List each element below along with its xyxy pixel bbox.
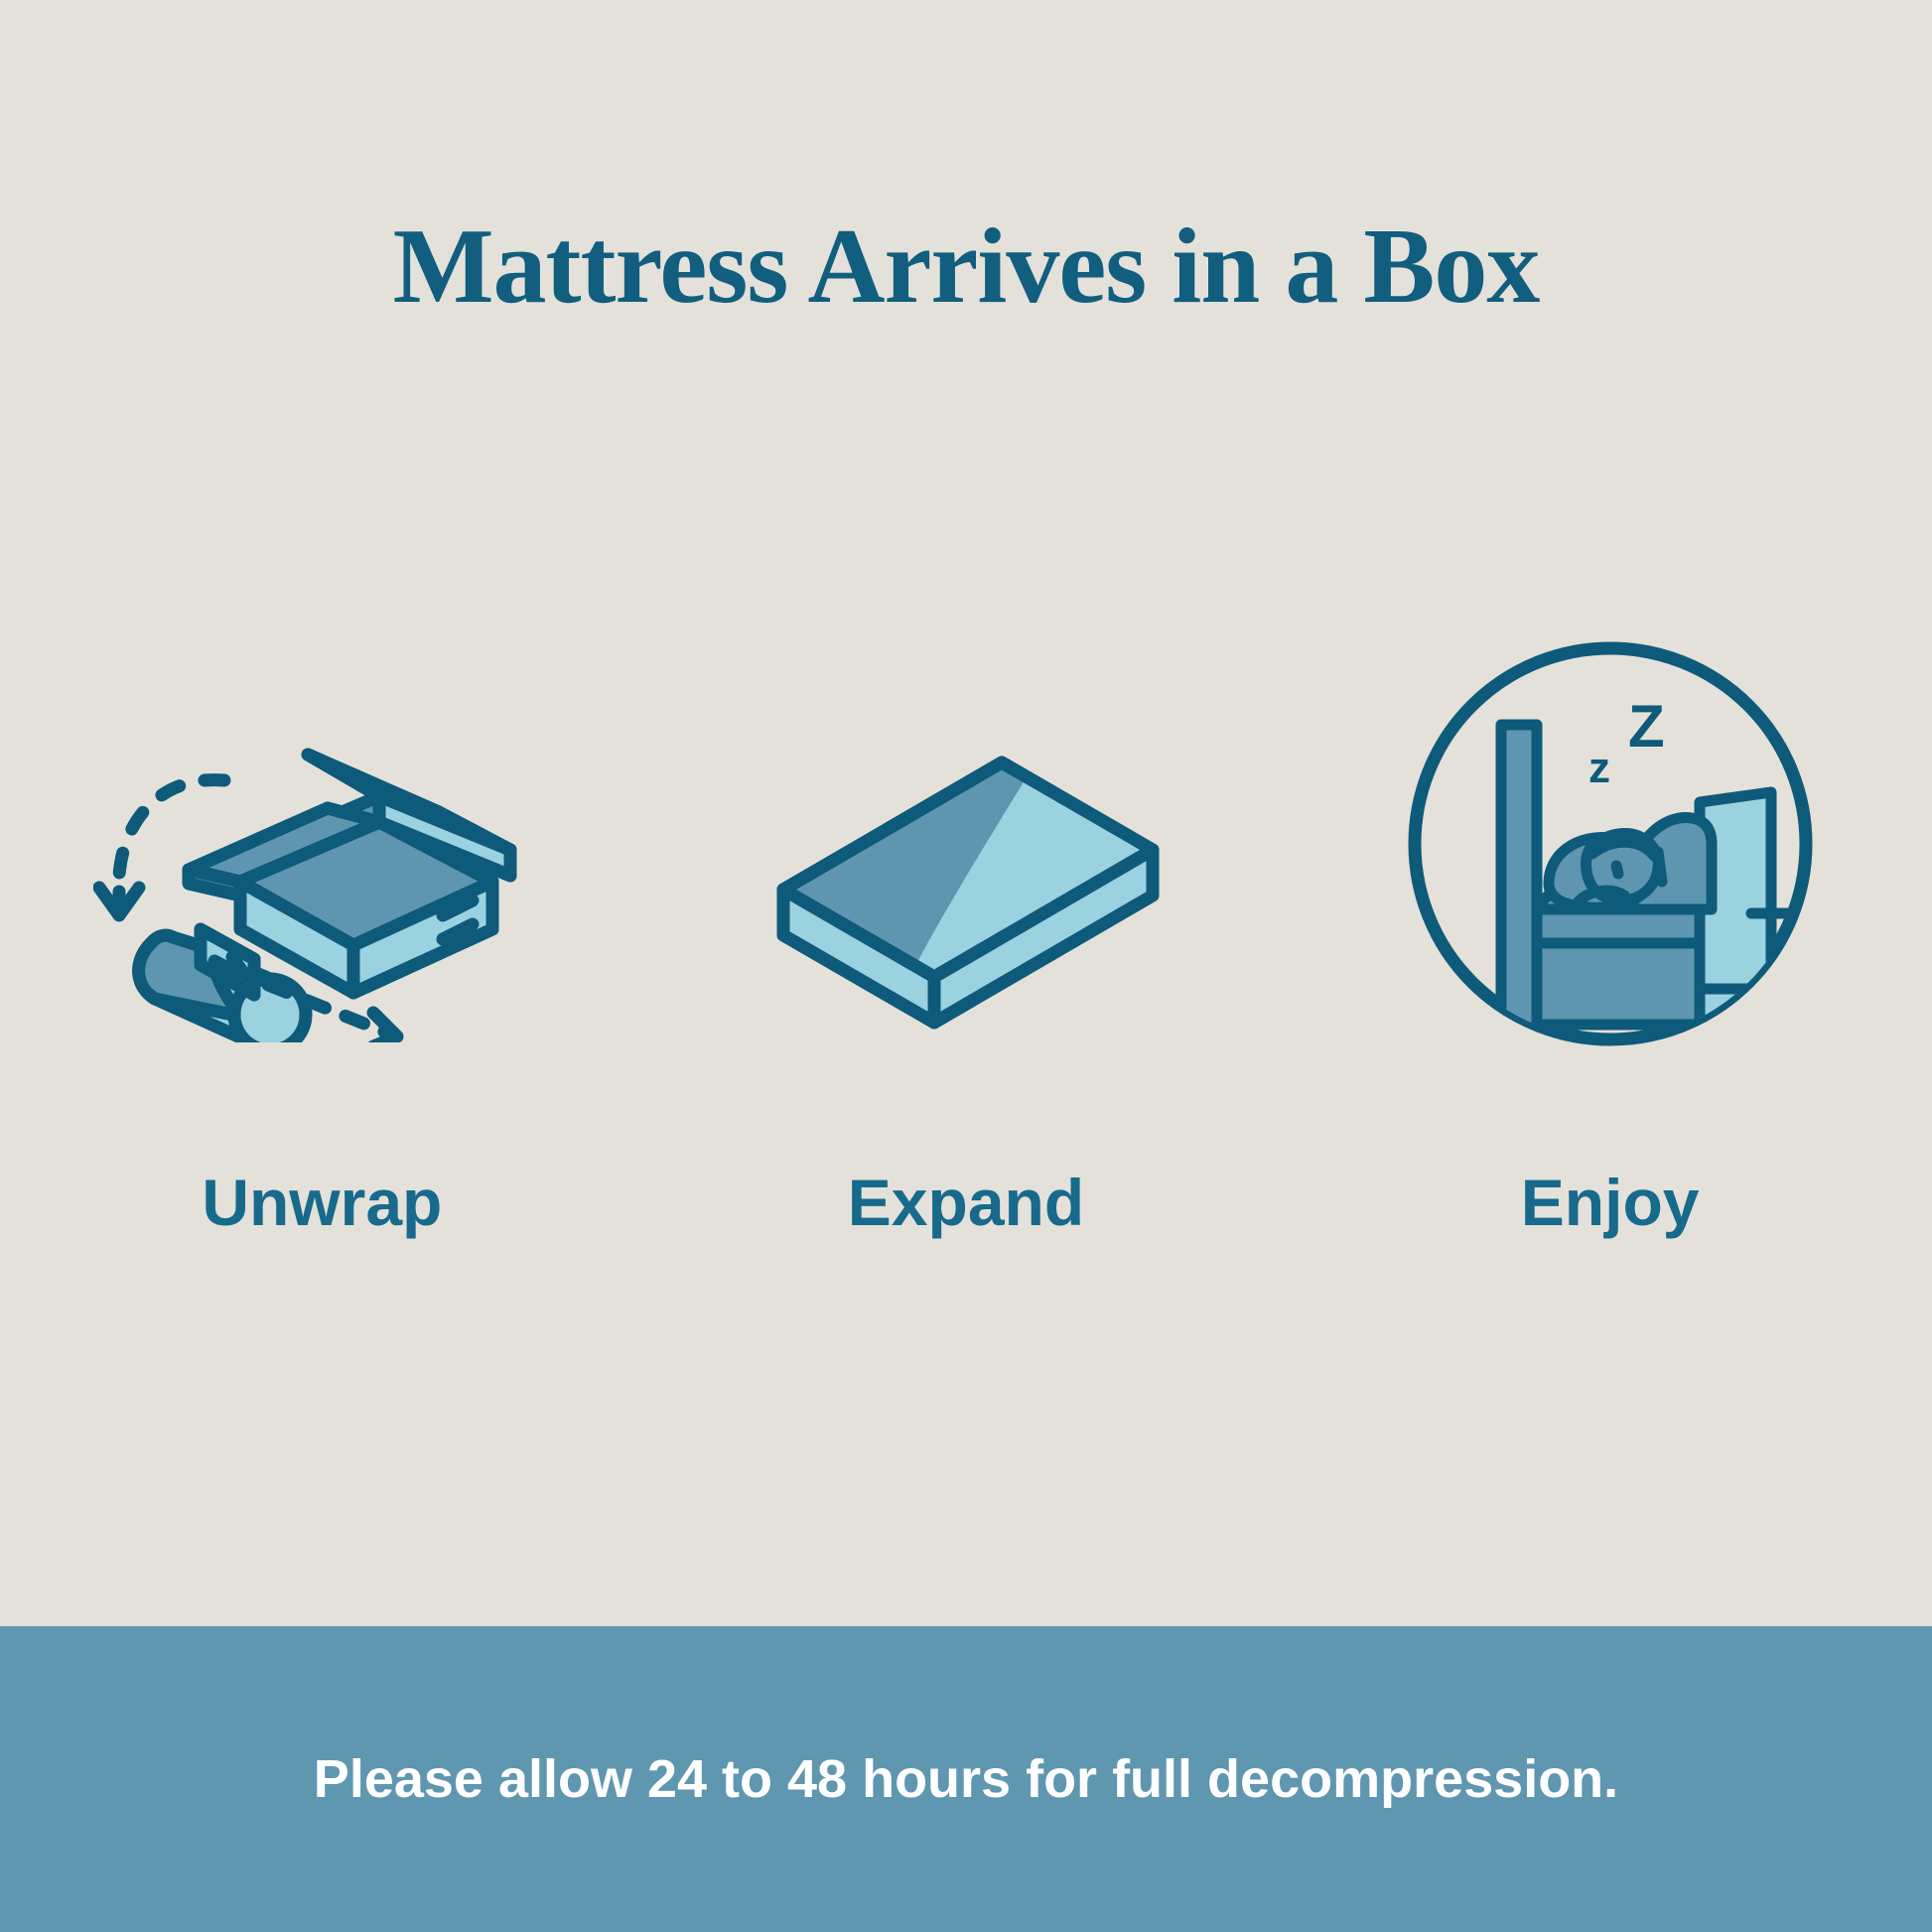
step-label-unwrap: Unwrap: [202, 1170, 442, 1235]
step-label-enjoy: Enjoy: [1521, 1170, 1700, 1235]
step-expand-art: [738, 635, 1194, 1052]
sleeping-person-in-bed-icon: z Z: [1402, 635, 1819, 1052]
flat-mattress-icon: [738, 645, 1194, 1042]
step-unwrap-art: [93, 635, 550, 1052]
step-label-expand: Expand: [848, 1170, 1084, 1235]
bottom-banner: Please allow 24 to 48 hours for full dec…: [0, 1626, 1932, 1932]
box-with-rolled-mattress-icon: [93, 645, 550, 1042]
step-unwrap: Unwrap: [44, 635, 600, 1235]
banner-text: Please allow 24 to 48 hours for full dec…: [314, 1748, 1618, 1810]
step-enjoy: z Z Enjoy: [1332, 635, 1888, 1235]
z-large: Z: [1628, 693, 1665, 759]
steps-row: Unwrap: [0, 635, 1932, 1235]
page-title: Mattress Arrives in a Box: [0, 210, 1932, 323]
infographic-page: Mattress Arrives in a Box: [0, 0, 1932, 1932]
step-enjoy-art: z Z: [1402, 635, 1819, 1052]
z-small: z: [1588, 744, 1610, 792]
step-expand: Expand: [688, 635, 1244, 1235]
